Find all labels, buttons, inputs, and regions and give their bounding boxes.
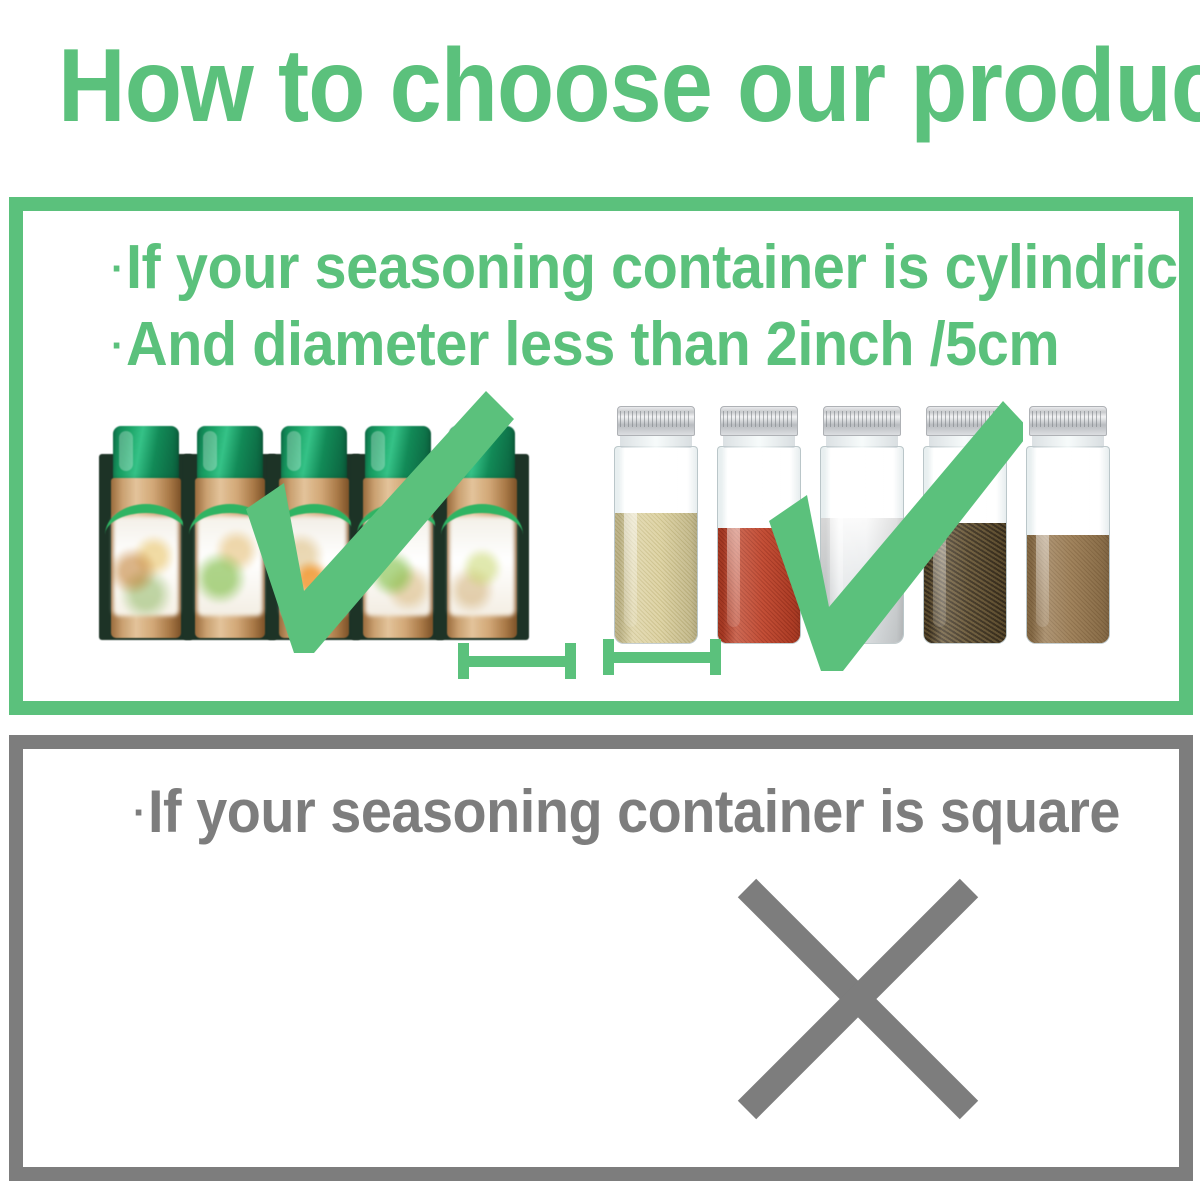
rejected-bullet-list: · If your seasoning container is square [133,777,1179,854]
green-cap [113,426,179,484]
rejected-panel: · If your seasoning container is square … [9,735,1193,1181]
shaker-bottle [103,426,189,641]
bullet-dot-icon: · [111,311,124,381]
glass-highlight [1036,452,1049,627]
bullet-dot-icon: · [133,778,146,848]
shaker-bottle [355,426,441,641]
glass-highlight [933,452,946,627]
approved-bullet-1: · If your seasoning container is cylindr… [111,233,1179,310]
glass-jar [608,406,703,646]
silver-lid [926,406,1004,436]
shaker-bottle [439,426,525,641]
clear-glass-jar-group [608,406,1123,646]
jar-neck [1032,434,1104,448]
green-cap [197,426,263,484]
page-title: How to choose our product [58,36,1066,136]
jar-neck [723,434,795,448]
shaker-bottle [271,426,357,641]
green-cap [281,426,347,484]
jar-neck [826,434,898,448]
approved-bullet-list: · If your seasoning container is cylindr… [111,233,1179,387]
shaker-bottle [187,426,273,641]
silver-lid [617,406,695,436]
jar-neck [620,434,692,448]
bullet-dot-icon: · [111,234,124,304]
cross-mark-icon [733,874,983,1124]
glass-jar [711,406,806,646]
green-cap [365,426,431,484]
glass-jar [814,406,909,646]
approved-panel: · If your seasoning container is cylindr… [9,197,1193,715]
green-cap [449,426,515,484]
jar-neck [929,434,1001,448]
diameter-marker-left-icon [458,639,588,685]
approved-bullet-1-text: If your seasoning container is cylindric… [126,233,1179,303]
approved-bullet-2-text: And diameter less than 2inch /5cm [126,310,1059,380]
silver-lid [1029,406,1107,436]
approved-bullet-2: · And diameter less than 2inch /5cm [111,310,1179,387]
glass-highlight [830,452,843,627]
green-cap-shaker-group [103,426,523,641]
silver-lid [720,406,798,436]
glass-jar [917,406,1012,646]
diameter-marker-right-icon [603,635,733,681]
silver-lid [823,406,901,436]
glass-jar [1020,406,1115,646]
rejected-bullet-1-text: If your seasoning container is square [148,777,1120,847]
glass-highlight [624,452,637,627]
rejected-bullet-1: · If your seasoning container is square [133,777,1179,854]
glass-highlight [727,452,740,627]
